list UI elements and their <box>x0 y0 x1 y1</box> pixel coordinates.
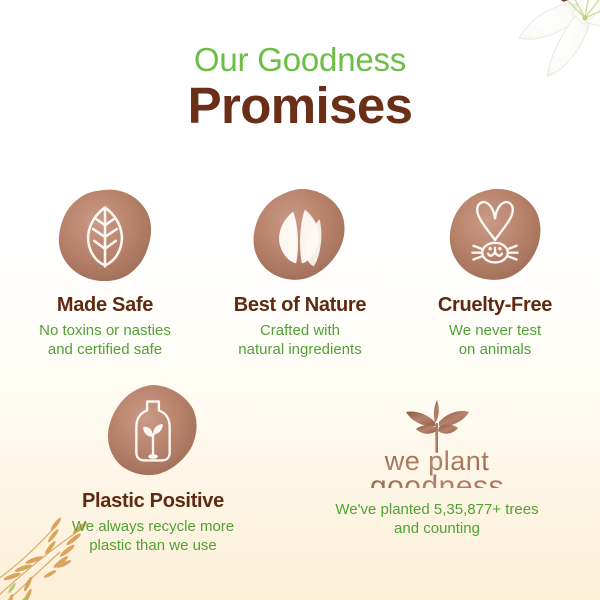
promise-plastic-positive: Plastic Positive We always recycle more … <box>28 382 278 555</box>
promise-desc-line-1: We never test <box>398 321 593 340</box>
promise-cruelty-free: Cruelty-Free We never test on animals <box>398 186 593 359</box>
promises-poster: Our Goodness Promises <box>0 0 600 600</box>
promise-description: We never test on animals <box>398 321 593 359</box>
promise-description: No toxins or nasties and certified safe <box>8 321 203 359</box>
promise-description: We always recycle more plastic than we u… <box>28 517 278 555</box>
we-plant-goodness-block: we plant goodness We've planted 5,35,877… <box>302 382 572 555</box>
bottle-sprout-icon <box>104 382 202 480</box>
badge-best-of-nature <box>251 186 349 284</box>
promise-desc-line-1: No toxins or nasties <box>8 321 203 340</box>
promise-desc-line-2: on animals <box>398 340 593 359</box>
page-title: Our Goodness Promises <box>0 42 600 133</box>
trees-planted-line-1: We've planted 5,35,877+ trees <box>302 500 572 519</box>
promises-row-bottom: Plastic Positive We always recycle more … <box>0 382 600 555</box>
we-plant-goodness-logo: we plant goodness <box>342 396 532 488</box>
heading-line-1: Our Goodness <box>0 42 600 78</box>
badge-cruelty-free <box>446 186 544 284</box>
logo-line-2: goodness <box>370 470 504 488</box>
three-leaves-icon <box>251 186 349 284</box>
bunny-heart-icon <box>446 186 544 284</box>
trees-planted-note: We've planted 5,35,877+ trees and counti… <box>302 500 572 538</box>
promise-desc-line-1: Crafted with <box>203 321 398 340</box>
promise-title: Cruelty-Free <box>398 294 593 317</box>
promise-best-of-nature: Best of Nature Crafted with natural ingr… <box>203 186 398 359</box>
promise-desc-line-1: We always recycle more <box>28 517 278 536</box>
promise-desc-line-2: plastic than we use <box>28 536 278 555</box>
badge-plastic-positive <box>104 382 202 480</box>
promise-title: Best of Nature <box>203 294 398 317</box>
promise-description: Crafted with natural ingredients <box>203 321 398 359</box>
promise-title: Made Safe <box>8 294 203 317</box>
promise-desc-line-2: natural ingredients <box>203 340 398 359</box>
heading-line-2: Promises <box>0 79 600 133</box>
badge-made-safe <box>56 186 154 284</box>
promises-row-top: Made Safe No toxins or nasties and certi… <box>0 186 600 359</box>
promise-title: Plastic Positive <box>28 490 278 513</box>
promise-made-safe: Made Safe No toxins or nasties and certi… <box>8 186 203 359</box>
promise-desc-line-2: and certified safe <box>8 340 203 359</box>
trees-planted-line-2: and counting <box>302 519 572 538</box>
leaf-outline-icon <box>56 186 154 284</box>
